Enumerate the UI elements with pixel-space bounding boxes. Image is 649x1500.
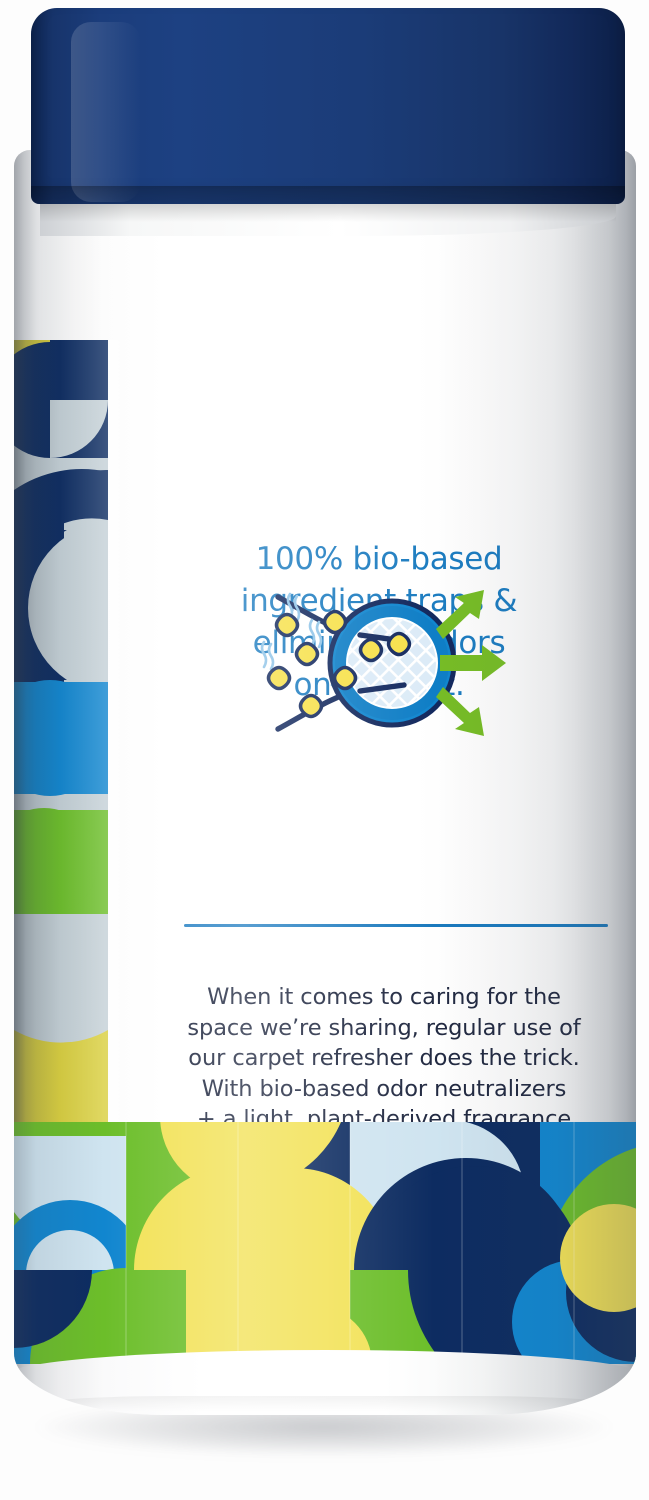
side-pattern-svg [14,340,108,1130]
headline-line-1: 100% bio-based [164,538,594,580]
bottom-pattern-svg [14,1122,636,1364]
bottom-pattern-band [14,1122,636,1364]
product-photo-canvas: 100% bio-based ingredient traps & elimin… [0,0,649,1500]
body-line-4: With bio-based odor neutralizers [154,1074,614,1105]
side-strip-edge-highlight [108,340,124,1130]
body-line-2: space we’re sharing, regular use of [154,1013,614,1044]
body-line-3: our carpet refresher does the trick. [154,1043,614,1074]
cap-bottom-rim [31,186,625,204]
odor-trap-circle [330,601,454,725]
bottle-base-groove [24,1396,626,1415]
body-line-1: When it comes to caring for the [154,982,614,1013]
bottle-body: 100% bio-based ingredient traps & elimin… [14,150,636,1415]
bottle-cap [31,8,625,204]
clean-air-arrows [436,590,506,736]
odor-trap-svg [242,575,532,750]
side-pattern-strip [14,340,108,1130]
section-divider [184,924,608,927]
odor-trap-illustration [242,575,532,750]
cap-highlight [71,22,141,202]
